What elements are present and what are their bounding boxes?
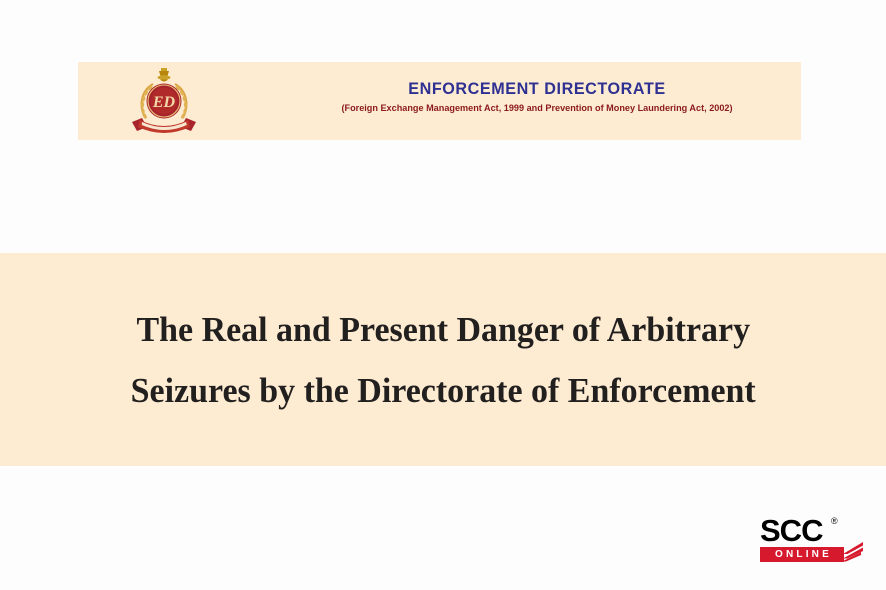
statutes-subtitle: (Foreign Exchange Management Act, 1999 a…: [293, 103, 781, 115]
enforcement-directorate-banner: ED ENFORCEMENT DIRECTORATE (Foreign Exch…: [78, 62, 801, 140]
article-title-band: The Real and Present Danger of Arbitrary…: [0, 253, 886, 466]
scc-online-logo: SCC ® ONLINE: [757, 516, 865, 564]
article-title-line-1: The Real and Present Danger of Arbitrary: [136, 312, 750, 347]
scc-online-subtitle: ONLINE: [760, 547, 844, 562]
scc-wordmark: SCC: [760, 516, 822, 546]
article-title-line-2: Seizures by the Directorate of Enforceme…: [130, 373, 755, 408]
registered-trademark-icon: ®: [831, 517, 838, 526]
enforcement-directorate-emblem: ED: [126, 66, 202, 138]
scc-swoosh-icon: [841, 540, 865, 562]
ribbon-banner-icon: [132, 118, 196, 133]
banner-text-block: ENFORCEMENT DIRECTORATE (Foreign Exchang…: [283, 78, 791, 116]
slide-canvas: ED ENFORCEMENT DIRECTORATE (Foreign Exch…: [0, 0, 886, 590]
ashoka-capital-icon: [158, 68, 171, 82]
svg-text:ED: ED: [152, 94, 176, 111]
organization-title: ENFORCEMENT DIRECTORATE: [296, 78, 779, 99]
